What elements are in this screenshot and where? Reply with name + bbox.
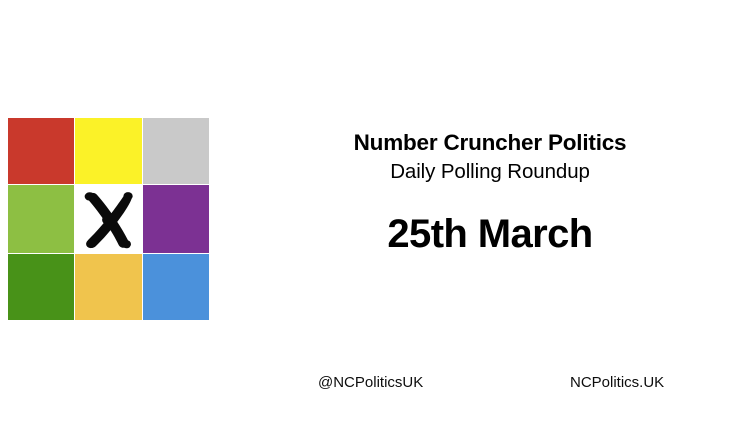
logo-cell-middle-center [75,185,141,253]
logo-cell-bottom-center [75,254,141,320]
ballot-cross-icon [75,185,141,253]
brand-title: Number Cruncher Politics [280,130,700,157]
logo-cell-top-right [143,118,209,184]
twitter-handle-label: @NCPoliticsUK [318,374,423,391]
logo-cell-bottom-right [143,254,209,320]
logo-cell-middle-left [8,185,74,253]
title-block: Number Cruncher Politics Daily Polling R… [280,130,700,256]
logo-cell-top-center [75,118,141,184]
brand-subtitle: Daily Polling Roundup [280,157,700,188]
logo-cell-top-left [8,118,74,184]
slide-date: 25th March [280,212,700,256]
number-cruncher-politics-logo [8,118,209,320]
logo-cell-bottom-left [8,254,74,320]
logo-cell-middle-right [143,185,209,253]
website-label: NCPolitics.UK [570,374,664,391]
title-slide: Number Cruncher Politics Daily Polling R… [0,0,730,430]
